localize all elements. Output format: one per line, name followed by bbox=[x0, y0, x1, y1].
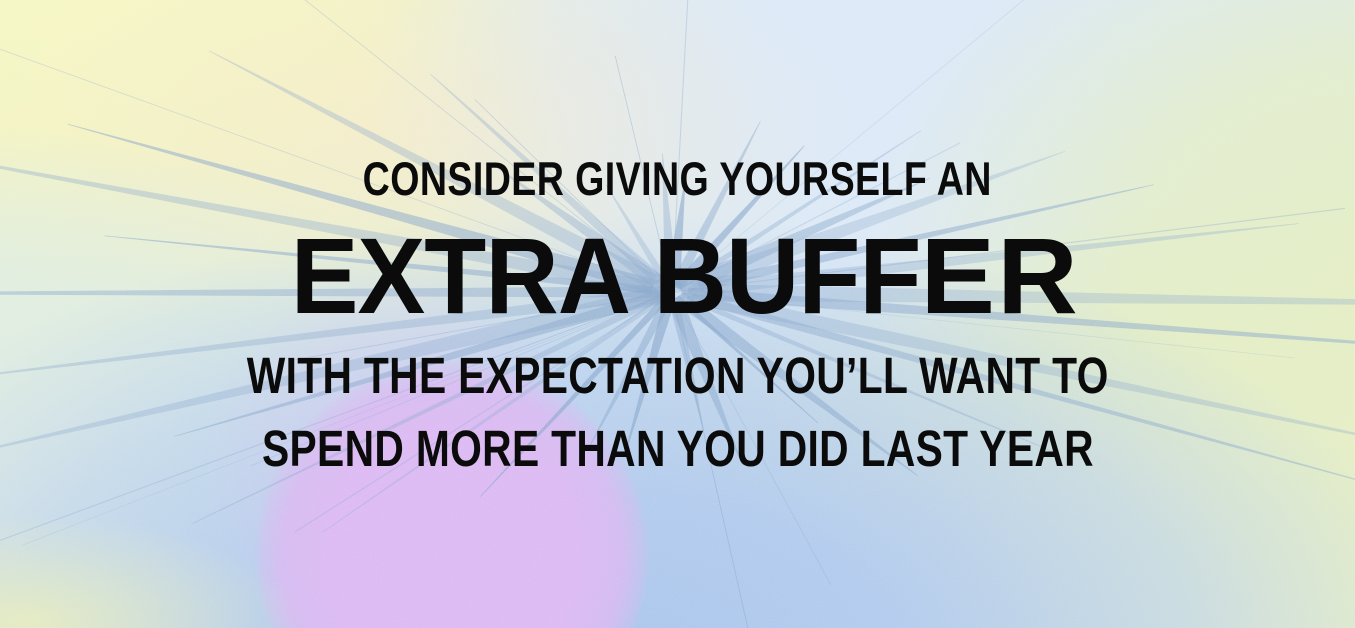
headline-kicker: CONSIDER GIVING YOURSELF AN bbox=[363, 155, 992, 202]
headline-hero: EXTRA BUFFER bbox=[290, 222, 1065, 330]
headline-block: CONSIDER GIVING YOURSELF AN EXTRA BUFFER… bbox=[0, 0, 1355, 628]
graphic-canvas: CONSIDER GIVING YOURSELF AN EXTRA BUFFER… bbox=[0, 0, 1355, 628]
headline-hero-lead: EXTRA BUFF bbox=[290, 215, 920, 336]
headline-hero-tail: ER bbox=[920, 222, 1079, 330]
headline-subline-2: SPEND MORE THAN YOU DID LAST YEAR bbox=[262, 423, 1094, 474]
headline-subline-1: WITH THE EXPECTATION YOU’LL WANT TO bbox=[247, 350, 1109, 401]
